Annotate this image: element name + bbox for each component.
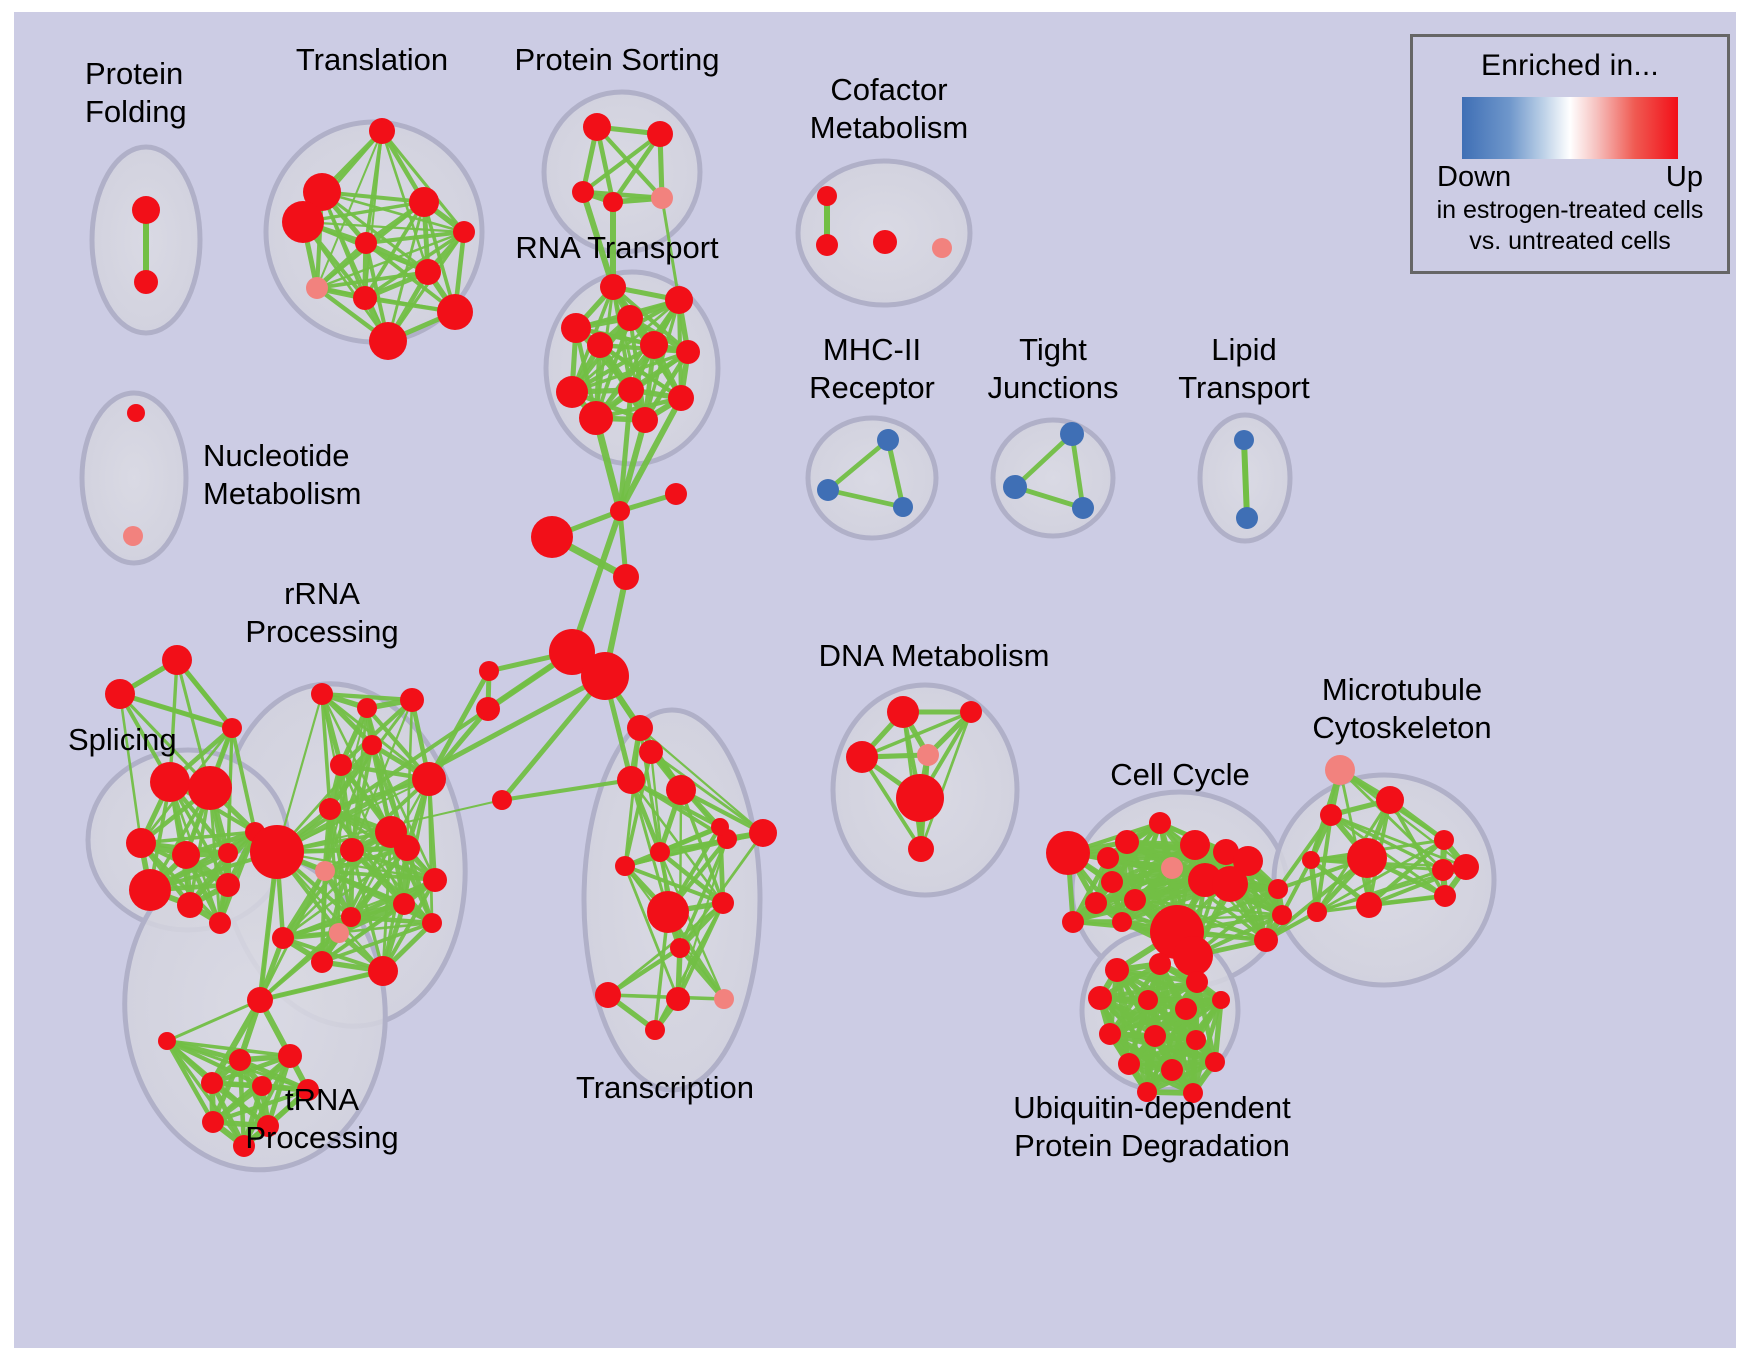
network-node[interactable] — [369, 118, 395, 144]
network-node[interactable] — [1347, 838, 1387, 878]
network-node[interactable] — [617, 766, 645, 794]
network-node[interactable] — [1268, 879, 1288, 899]
legend-subtitle-line-2: vs. untreated cells — [1413, 227, 1727, 256]
network-node[interactable] — [1186, 1030, 1206, 1050]
network-node[interactable] — [1060, 422, 1084, 446]
network-node[interactable] — [645, 1020, 665, 1040]
network-node[interactable] — [1175, 998, 1197, 1020]
cluster-label-cofactor-metab: CofactorMetabolism — [810, 72, 969, 145]
network-node[interactable] — [817, 479, 839, 501]
network-node[interactable] — [1236, 507, 1258, 529]
network-node[interactable] — [1376, 786, 1404, 814]
network-node[interactable] — [960, 701, 982, 723]
network-node[interactable] — [639, 740, 663, 764]
legend-endpoint-labels: Down Up — [1437, 161, 1703, 194]
network-node[interactable] — [666, 987, 690, 1011]
cluster-label-protein-folding: ProteinFolding — [85, 56, 187, 129]
network-node[interactable] — [1088, 986, 1112, 1010]
network-node[interactable] — [222, 718, 242, 738]
network-node[interactable] — [887, 696, 919, 728]
network-node[interactable] — [581, 652, 629, 700]
network-node[interactable] — [409, 187, 439, 217]
network-node[interactable] — [1149, 812, 1171, 834]
legend-down-label: Down — [1437, 161, 1511, 194]
network-node[interactable] — [1453, 854, 1479, 880]
network-node[interactable] — [319, 798, 341, 820]
cluster-label-microtubule: MicrotubuleCytoskeleton — [1312, 672, 1491, 745]
cluster-hull-protein-sorting — [544, 92, 700, 252]
network-node[interactable] — [531, 516, 573, 558]
network-node[interactable] — [665, 483, 687, 505]
network-node[interactable] — [330, 754, 352, 776]
cluster-label-rna-transport: RNA Transport — [515, 230, 719, 265]
network-node[interactable] — [362, 735, 382, 755]
network-node[interactable] — [1272, 905, 1292, 925]
network-node[interactable] — [369, 322, 407, 360]
network-node[interactable] — [603, 192, 623, 212]
network-node[interactable] — [647, 121, 673, 147]
network-node[interactable] — [932, 238, 952, 258]
cluster-label-tight-junctions: TightJunctions — [988, 332, 1119, 405]
network-node[interactable] — [647, 891, 689, 933]
network-node[interactable] — [311, 683, 333, 705]
cluster-label-lipid-transport: LipidTransport — [1178, 332, 1310, 405]
network-node[interactable] — [893, 497, 913, 517]
network-node[interactable] — [476, 697, 500, 721]
network-node[interactable] — [1234, 430, 1254, 450]
network-node[interactable] — [714, 989, 734, 1009]
network-node[interactable] — [1149, 953, 1171, 975]
cluster-label-splicing: Splicing — [68, 722, 177, 757]
network-node[interactable] — [556, 376, 588, 408]
network-node[interactable] — [329, 923, 349, 943]
network-node[interactable] — [150, 762, 190, 802]
edge — [502, 676, 605, 800]
edge — [1244, 440, 1247, 518]
network-node[interactable] — [1124, 889, 1146, 911]
network-node[interactable] — [127, 404, 145, 422]
network-node[interactable] — [627, 715, 653, 741]
network-node[interactable] — [877, 429, 899, 451]
network-node[interactable] — [917, 744, 939, 766]
network-node[interactable] — [666, 775, 696, 805]
network-node[interactable] — [600, 274, 626, 300]
network-node[interactable] — [572, 181, 594, 203]
network-node[interactable] — [412, 762, 446, 796]
network-node[interactable] — [1212, 866, 1248, 902]
network-node[interactable] — [579, 401, 613, 435]
network-node[interactable] — [393, 893, 415, 915]
network-node[interactable] — [218, 843, 238, 863]
cluster-label-nucleotide-metab: NucleotideMetabolism — [203, 438, 362, 511]
network-node[interactable] — [1105, 958, 1129, 982]
network-node[interactable] — [355, 232, 377, 254]
network-node[interactable] — [423, 868, 447, 892]
network-node[interactable] — [1186, 971, 1208, 993]
cluster-label-rrna-processing: rRNAProcessing — [245, 576, 398, 649]
network-node[interactable] — [587, 332, 613, 358]
network-node[interactable] — [202, 1111, 224, 1133]
network-node[interactable] — [610, 501, 630, 521]
network-node[interactable] — [1356, 892, 1382, 918]
network-node[interactable] — [1099, 1023, 1121, 1045]
cluster-label-mhc-ii: MHC-IIReceptor — [809, 332, 935, 405]
network-node[interactable] — [1112, 912, 1132, 932]
network-node[interactable] — [247, 987, 273, 1013]
network-node[interactable] — [479, 661, 499, 681]
cluster-label-ubiquitin: Ubiquitin-dependentProtein Degradation — [1013, 1090, 1291, 1163]
network-node[interactable] — [1432, 859, 1454, 881]
network-node[interactable] — [1115, 830, 1139, 854]
network-node[interactable] — [353, 286, 377, 310]
network-node[interactable] — [394, 835, 420, 861]
network-node[interactable] — [201, 1072, 223, 1094]
network-node[interactable] — [1062, 911, 1084, 933]
network-node[interactable] — [105, 679, 135, 709]
network-node[interactable] — [651, 187, 673, 209]
network-node[interactable] — [640, 331, 668, 359]
network-node[interactable] — [632, 407, 658, 433]
network-node[interactable] — [712, 892, 734, 914]
network-node[interactable] — [873, 230, 897, 254]
network-node[interactable] — [1180, 830, 1210, 860]
legend-up-label: Up — [1666, 161, 1703, 194]
network-node[interactable] — [400, 688, 424, 712]
network-node[interactable] — [618, 377, 644, 403]
network-node[interactable] — [846, 741, 878, 773]
legend-color-gradient-bar — [1462, 97, 1678, 159]
network-node[interactable] — [1072, 497, 1094, 519]
network-node[interactable] — [613, 564, 639, 590]
network-node[interactable] — [250, 825, 304, 879]
network-node[interactable] — [816, 234, 838, 256]
network-node[interactable] — [749, 819, 777, 847]
network-node[interactable] — [1046, 831, 1090, 875]
network-node[interactable] — [129, 869, 171, 911]
legend-panel: Enriched in... Down Up in estrogen-treat… — [1410, 34, 1730, 274]
network-node[interactable] — [415, 259, 441, 285]
network-node[interactable] — [617, 305, 643, 331]
network-node[interactable] — [1302, 851, 1320, 869]
network-node[interactable] — [172, 841, 200, 869]
network-node[interactable] — [1434, 830, 1454, 850]
network-node[interactable] — [123, 526, 143, 546]
network-node[interactable] — [1003, 475, 1027, 499]
network-node[interactable] — [583, 113, 611, 141]
cluster-label-protein-sorting: Protein Sorting — [514, 42, 719, 77]
network-node[interactable] — [177, 892, 203, 918]
network-node[interactable] — [422, 913, 442, 933]
network-node[interactable] — [1320, 804, 1342, 826]
network-node[interactable] — [341, 907, 361, 927]
network-node[interactable] — [595, 982, 621, 1008]
network-node[interactable] — [1161, 857, 1183, 879]
network-node[interactable] — [272, 927, 294, 949]
network-node[interactable] — [216, 873, 240, 897]
network-node[interactable] — [229, 1049, 251, 1071]
network-node[interactable] — [896, 774, 944, 822]
network-node[interactable] — [453, 221, 475, 243]
network-node[interactable] — [1144, 1025, 1166, 1047]
network-node[interactable] — [650, 842, 670, 862]
network-node[interactable] — [1325, 755, 1355, 785]
network-node[interactable] — [1254, 928, 1278, 952]
legend-subtitle-line-1: in estrogen-treated cells — [1413, 196, 1727, 225]
enrichment-map-figure: ProteinFoldingTranslationProtein Sorting… — [0, 0, 1750, 1360]
network-node[interactable] — [711, 818, 729, 836]
network-node[interactable] — [1307, 902, 1327, 922]
network-node[interactable] — [668, 385, 694, 411]
network-node[interactable] — [615, 856, 635, 876]
network-node[interactable] — [306, 277, 328, 299]
network-node[interactable] — [561, 313, 591, 343]
cluster-label-transcription: Transcription — [576, 1070, 754, 1105]
cluster-label-cell-cycle: Cell Cycle — [1110, 757, 1250, 792]
network-node[interactable] — [1161, 1059, 1183, 1081]
cluster-hull-mhc-ii — [808, 418, 936, 538]
network-node[interactable] — [670, 938, 690, 958]
network-node[interactable] — [492, 790, 512, 810]
network-node[interactable] — [1434, 885, 1456, 907]
network-node[interactable] — [1205, 1052, 1225, 1072]
cluster-label-dna-metabolism: DNA Metabolism — [819, 638, 1050, 673]
network-node[interactable] — [282, 201, 324, 243]
network-node[interactable] — [368, 956, 398, 986]
network-node[interactable] — [1212, 991, 1230, 1009]
network-node[interactable] — [665, 286, 693, 314]
network-node[interactable] — [1173, 936, 1213, 976]
network-node[interactable] — [278, 1044, 302, 1068]
cluster-label-translation: Translation — [296, 42, 448, 77]
network-node[interactable] — [311, 951, 333, 973]
network-node[interactable] — [676, 340, 700, 364]
network-node[interactable] — [340, 838, 364, 862]
network-node[interactable] — [1097, 847, 1119, 869]
network-node[interactable] — [1118, 1053, 1140, 1075]
network-node[interactable] — [1138, 990, 1158, 1010]
network-node[interactable] — [132, 196, 160, 224]
network-node[interactable] — [158, 1032, 176, 1050]
legend-title: Enriched in... — [1413, 49, 1727, 83]
network-node[interactable] — [1085, 892, 1107, 914]
network-node[interactable] — [357, 698, 377, 718]
network-node[interactable] — [817, 186, 837, 206]
network-node[interactable] — [315, 861, 335, 881]
network-node[interactable] — [209, 912, 231, 934]
network-node[interactable] — [134, 270, 158, 294]
network-node[interactable] — [126, 828, 156, 858]
network-node[interactable] — [162, 645, 192, 675]
network-node[interactable] — [908, 836, 934, 862]
network-node[interactable] — [188, 766, 232, 810]
network-node[interactable] — [1101, 871, 1123, 893]
network-node[interactable] — [252, 1076, 272, 1096]
network-node[interactable] — [437, 294, 473, 330]
